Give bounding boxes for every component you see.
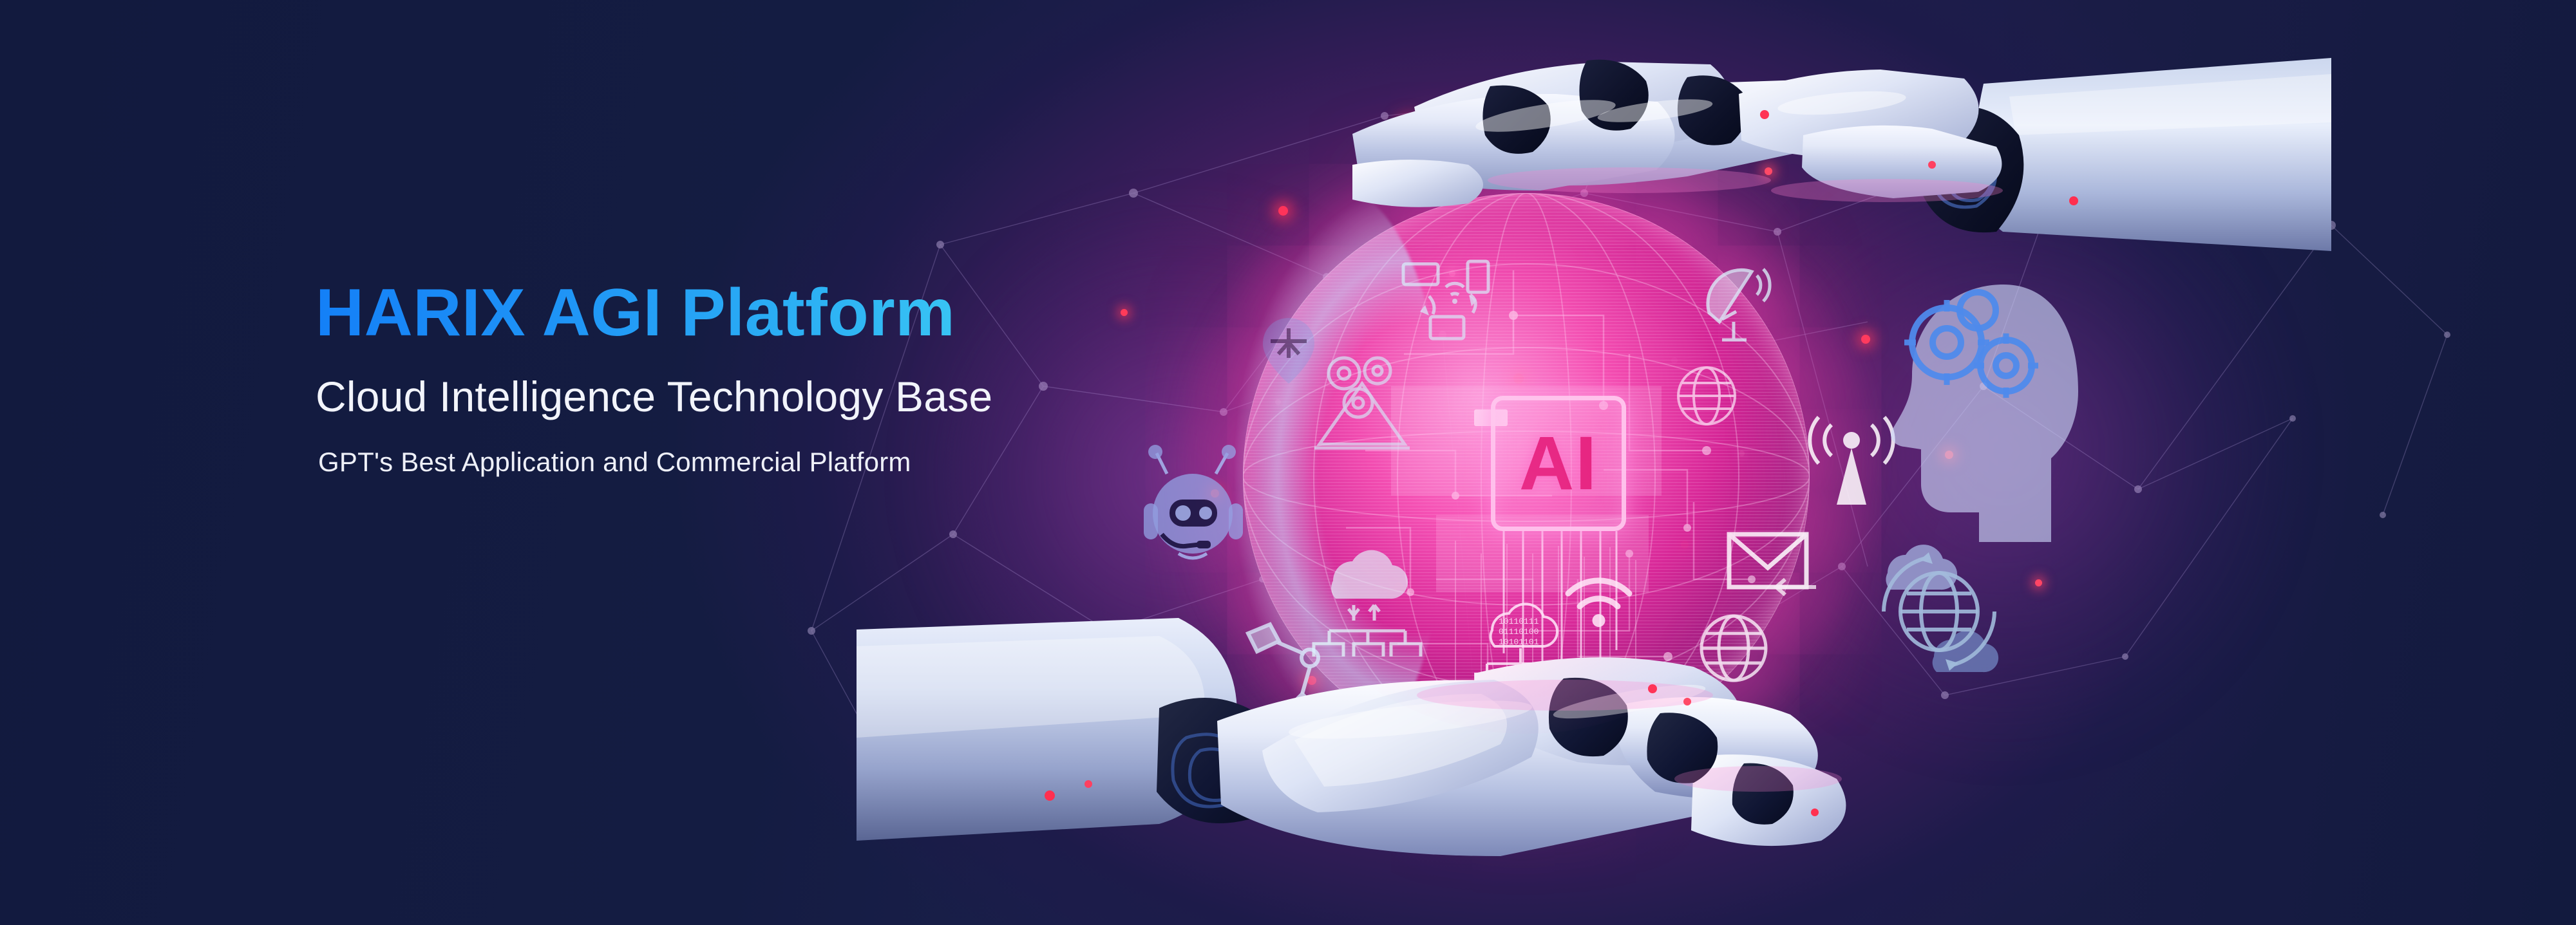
hero-copy: HARIX AGI Platform Cloud Intelligence Te… <box>316 277 1217 478</box>
page-tagline: GPT's Best Application and Commercial Pl… <box>318 447 1217 478</box>
envelope-icon <box>1726 528 1823 602</box>
location-pin-icon <box>1259 315 1318 386</box>
cloud-globe-sync-icon <box>1864 534 2025 682</box>
ai-chip-badge: AI <box>1491 396 1626 531</box>
page-subtitle: Cloud Intelligence Technology Base <box>316 373 1217 421</box>
hero-banner: AI <box>0 0 2576 925</box>
robot-hand-top <box>1352 39 2331 386</box>
robot-hand-bottom <box>857 612 1861 925</box>
page-title: HARIX AGI Platform <box>316 277 1217 349</box>
ai-badge-label: AI <box>1519 425 1598 501</box>
